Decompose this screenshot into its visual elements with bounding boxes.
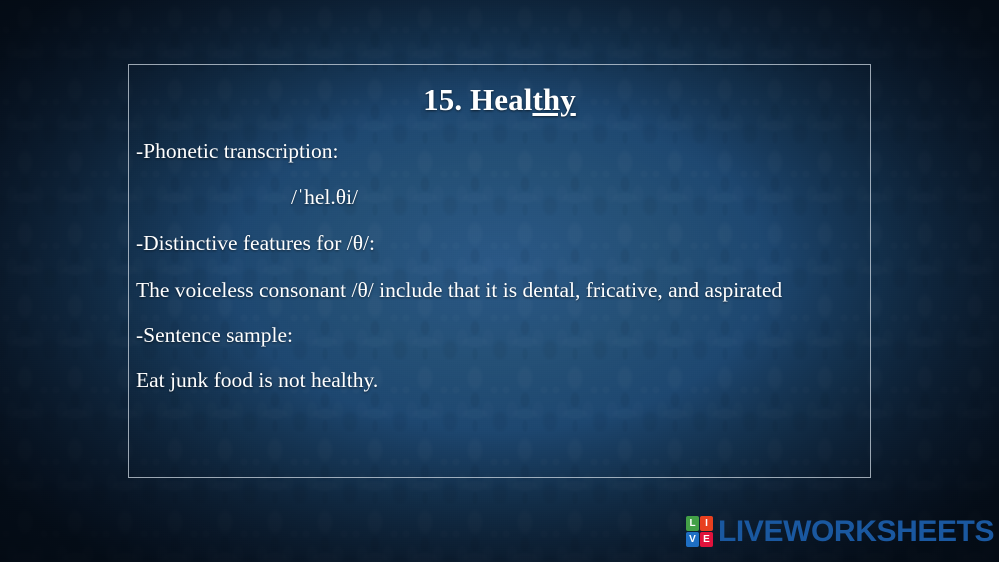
logo-tile-l: L <box>686 516 699 531</box>
phonetic-transcription-label: -Phonetic transcription: <box>136 138 863 166</box>
logo-wordmark: LIVEWORKSHEETS <box>718 517 994 547</box>
slide-title-prefix: 15. Heal <box>423 82 532 117</box>
sentence-sample-value: Eat junk food is not healthy. <box>136 367 863 395</box>
liveworksheets-logo[interactable]: L I V E LIVEWORKSHEETS <box>686 516 994 547</box>
logo-tile-i: I <box>700 516 713 531</box>
phonetic-transcription-value: /ˈhel.θi/ <box>136 184 863 212</box>
distinctive-features-label: -Distinctive features for /θ/: <box>136 230 863 258</box>
slide-title-underlined-part: thy <box>532 82 575 117</box>
distinctive-features-body: The voiceless consonant /θ/ include that… <box>136 275 862 306</box>
logo-tile-e: E <box>700 532 713 547</box>
slide-canvas: 15. Healthy -Phonetic transcription: /ˈh… <box>0 0 999 562</box>
logo-tile-grid: L I V E <box>686 516 713 547</box>
sentence-sample-label: -Sentence sample: <box>136 322 863 350</box>
slide-title: 15. Healthy <box>136 82 863 119</box>
logo-tile-v: V <box>686 532 699 547</box>
slide-content: 15. Healthy -Phonetic transcription: /ˈh… <box>136 72 863 472</box>
